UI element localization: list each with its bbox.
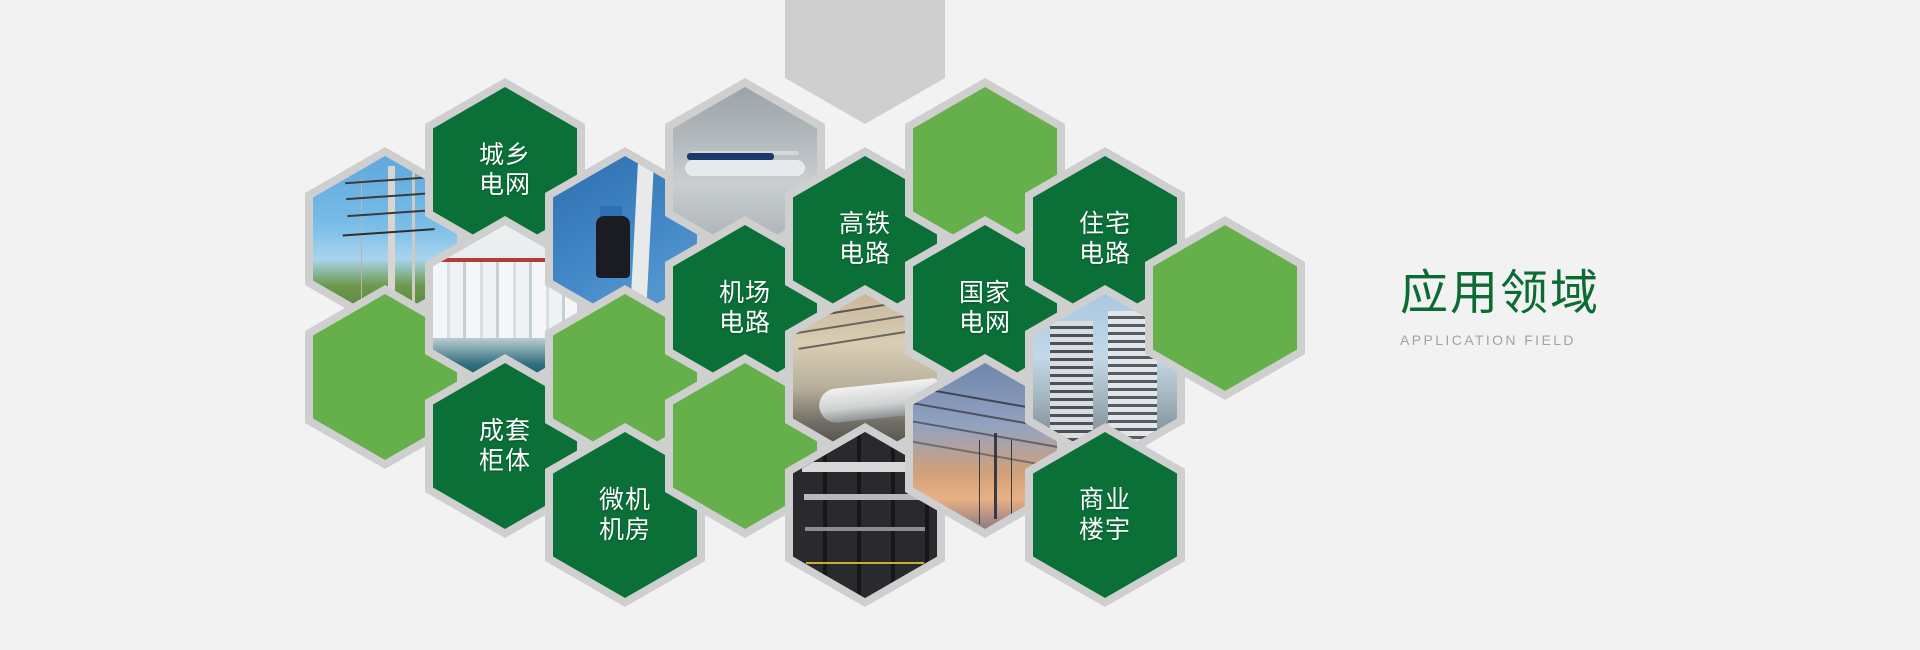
page-subtitle: APPLICATION FIELD bbox=[1400, 332, 1860, 348]
hex-label-commercial-building: 商业 楼宇 bbox=[1079, 485, 1131, 546]
hexagon-honeycomb: 城乡 电网 成套 柜体 bbox=[0, 0, 1320, 650]
hex-label-residential-circuit: 住宅 电路 bbox=[1079, 209, 1131, 270]
hex-label-computer-room: 微机 机房 bbox=[599, 485, 651, 546]
hex-label-state-grid: 国家 电网 bbox=[959, 278, 1011, 339]
hex-label-airport-circuit: 机场 电路 bbox=[719, 278, 771, 339]
blank-light-green-fill bbox=[1153, 225, 1297, 391]
heading-block: 应用领域 APPLICATION FIELD bbox=[1400, 268, 1860, 348]
application-field-banner: 城乡 电网 成套 柜体 bbox=[0, 0, 1920, 650]
hex-label-complete-cabinet: 成套 柜体 bbox=[479, 416, 531, 477]
hex-label-urban-rural-grid: 城乡 电网 bbox=[479, 140, 531, 201]
hex-label-hsr-circuit: 高铁 电路 bbox=[839, 209, 891, 270]
page-title: 应用领域 bbox=[1400, 268, 1860, 319]
hex-cell-blank-6 bbox=[785, 0, 945, 124]
